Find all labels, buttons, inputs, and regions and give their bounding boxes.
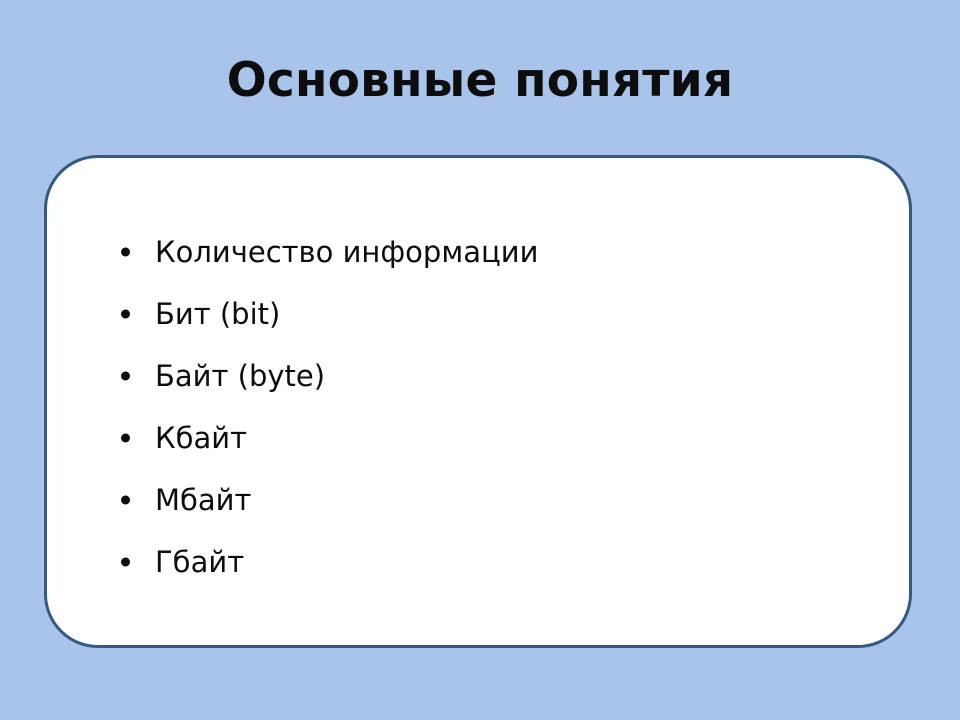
list-item: Гбайт — [121, 531, 538, 593]
bullet-dot-icon — [121, 372, 130, 381]
concepts-bullet-list: Количество информации Бит (bit) Байт (by… — [121, 221, 538, 593]
list-item: Бит (bit) — [121, 283, 538, 345]
list-item-label: Мбайт — [155, 483, 251, 517]
bullet-dot-icon — [121, 310, 130, 319]
bullet-dot-icon — [121, 434, 130, 443]
list-item-label: Байт (byte) — [155, 359, 325, 393]
page-title: Основные понятия — [0, 52, 960, 110]
list-item-label: Бит (bit) — [155, 297, 280, 331]
presentation-slide: Основные понятия Количество информации Б… — [0, 0, 960, 720]
list-item: Мбайт — [121, 469, 538, 531]
list-item: Байт (byte) — [121, 345, 538, 407]
bullet-dot-icon — [121, 248, 130, 257]
bullet-dot-icon — [121, 496, 130, 505]
list-item: Кбайт — [121, 407, 538, 469]
list-item: Количество информации — [121, 221, 538, 283]
list-item-label: Гбайт — [155, 545, 244, 579]
list-item-label: Кбайт — [155, 421, 247, 455]
bullet-dot-icon — [121, 558, 130, 567]
list-item-label: Количество информации — [155, 235, 538, 269]
content-panel: Количество информации Бит (bit) Байт (by… — [44, 155, 912, 648]
